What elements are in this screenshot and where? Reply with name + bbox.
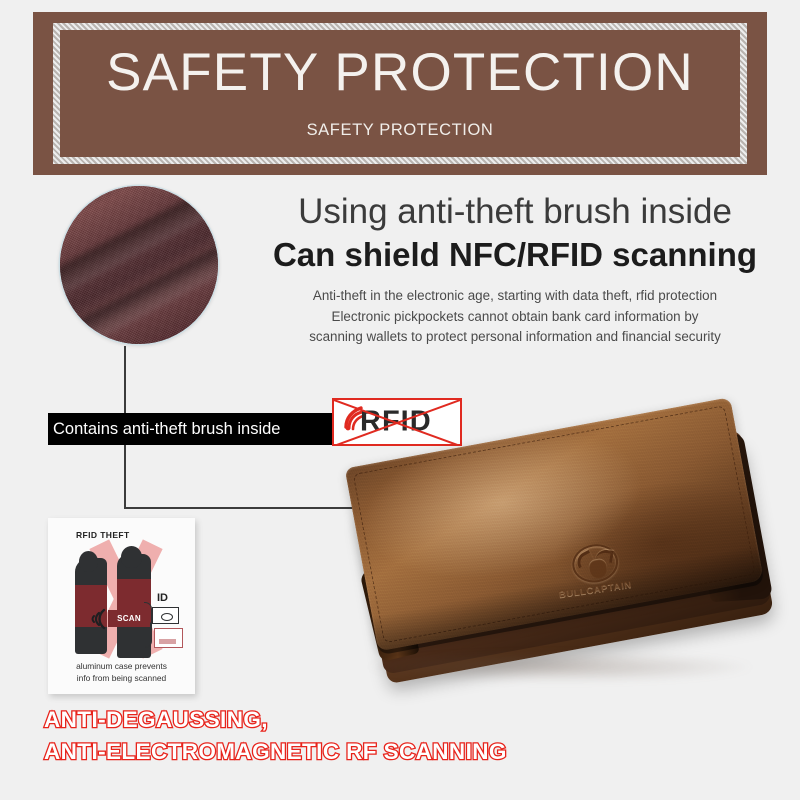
body-copy-line: Anti-theft in the electronic age, starti… <box>255 286 775 306</box>
theft-caption-line: info from being scanned <box>48 672 195 684</box>
thief-head <box>121 546 142 568</box>
banner-text-group: SAFETY PROTECTION SAFETY PROTECTION <box>33 12 767 175</box>
body-copy-line: scanning wallets to protect personal inf… <box>255 327 775 347</box>
body-copy: Anti-theft in the electronic age, starti… <box>255 286 775 347</box>
scan-wave-icon <box>86 604 108 634</box>
theft-card-caption: aluminum case prevents info from being s… <box>48 660 195 684</box>
credit-card-icon <box>154 628 183 648</box>
fabric-closeup-image <box>60 186 218 344</box>
product-feature-banner: SAFETY PROTECTION SAFETY PROTECTION Usin… <box>0 0 800 800</box>
banknote-icon <box>152 607 179 624</box>
callout-label-text: Contains anti-theft brush inside <box>48 420 280 439</box>
headline-secondary: Can shield NFC/RFID scanning <box>255 235 775 275</box>
bull-head-icon <box>569 541 621 586</box>
callout-label-bar: Contains anti-theft brush inside <box>48 413 333 445</box>
wallet-drop-shadow <box>368 652 752 682</box>
header-banner: SAFETY PROTECTION SAFETY PROTECTION <box>33 12 767 175</box>
scan-chip-label: SCAN <box>117 614 141 623</box>
bottom-callout-line: ANTI-ELECTROMAGNETIC RF SCANNING <box>44 736 507 768</box>
wallet-product-photo: BULLCAPTAIN <box>352 424 800 724</box>
body-copy-line: Electronic pickpockets cannot obtain ban… <box>255 307 775 327</box>
victim-head <box>79 551 98 572</box>
id-brace <box>144 602 152 648</box>
bottom-callout-line: ANTI-DEGAUSSING, <box>44 704 507 736</box>
headline-primary: Using anti-theft brush inside <box>255 192 775 233</box>
id-label: ID <box>157 592 168 604</box>
page-title: SAFETY PROTECTION <box>106 46 694 99</box>
headline-block: Using anti-theft brush inside Can shield… <box>255 192 775 347</box>
rfid-theft-infographic-card: RFID THEFT SCAN ID aluminum case prevent… <box>48 518 195 694</box>
page-subtitle: SAFETY PROTECTION <box>307 121 494 140</box>
bottom-callout: ANTI-DEGAUSSING, ANTI-ELECTROMAGNETIC RF… <box>44 704 507 768</box>
theft-caption-line: aluminum case prevents <box>48 660 195 672</box>
